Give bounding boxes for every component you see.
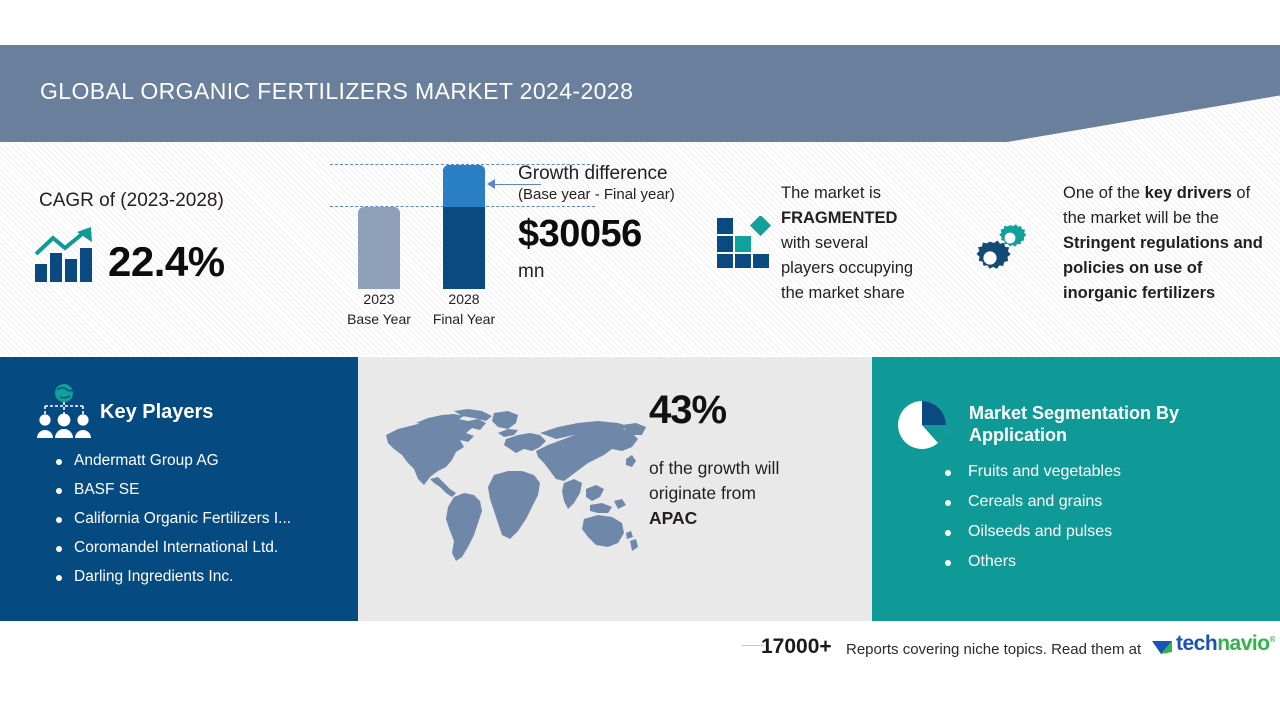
list-item: Others xyxy=(945,553,1275,571)
cagr-value: 22.4% xyxy=(108,238,225,286)
key-drivers-highlight2: Stringent regulations and policies on us… xyxy=(1063,234,1263,302)
world-map xyxy=(368,405,648,575)
footer-text: Reports covering niche topics. Read them… xyxy=(846,641,1141,658)
gears-icon xyxy=(968,222,1030,278)
list-item: California Organic Fertilizers I... xyxy=(56,510,356,528)
fragmented-line1: The market is xyxy=(781,184,881,202)
key-players-list: Andermatt Group AG BASF SE California Or… xyxy=(56,452,356,597)
region-line2: originate from xyxy=(649,483,756,503)
fragmented-line2: with several xyxy=(781,234,868,252)
list-item: Oilseeds and pulses xyxy=(945,523,1275,541)
region-name: APAC xyxy=(649,508,697,528)
bar-2023-label: 2023 Base Year xyxy=(334,289,424,329)
bar-2023 xyxy=(358,207,400,289)
logo-navio: navio xyxy=(1217,632,1269,655)
list-item: Fruits and vegetables xyxy=(945,463,1275,481)
list-item: Andermatt Group AG xyxy=(56,452,356,470)
page-title: GLOBAL ORGANIC FERTILIZERS MARKET 2024-2… xyxy=(40,78,633,105)
segmentation-list: Fruits and vegetables Cereals and grains… xyxy=(945,463,1275,583)
key-drivers-highlight1: key drivers xyxy=(1145,184,1232,202)
trademark-symbol: ® xyxy=(1270,635,1275,644)
callout-arrow-head xyxy=(487,179,495,189)
fragmented-highlight: FRAGMENTED xyxy=(781,209,897,227)
region-text: of the growth will originate from APAC xyxy=(649,456,839,531)
bar-2028 xyxy=(443,165,485,289)
cagr-label: CAGR of (2023-2028) xyxy=(39,190,224,212)
bar-2028-label: 2028 Final Year xyxy=(419,289,509,329)
key-drivers-text: One of the key drivers of the market wil… xyxy=(1063,181,1263,306)
network-people-globe-icon xyxy=(33,384,95,440)
key-drivers-prefix: One of the xyxy=(1063,184,1145,202)
pie-chart-icon xyxy=(896,399,952,451)
logo-tech: tech xyxy=(1176,632,1217,655)
bar-2023-caption: Base Year xyxy=(347,311,411,327)
technavio-logo-text[interactable]: technavio® xyxy=(1176,632,1275,656)
growth-difference-unit: mn xyxy=(518,261,544,283)
footer-report-count: 17000+ xyxy=(761,635,832,659)
list-item: BASF SE xyxy=(56,481,356,499)
bar-2028-base-segment xyxy=(443,207,485,289)
region-line1: of the growth will xyxy=(649,458,779,478)
fragmented-text: The market is FRAGMENTED with several pl… xyxy=(781,181,951,306)
bar-2028-year: 2028 xyxy=(448,291,479,307)
bar-2023-year: 2023 xyxy=(363,291,394,307)
list-item: Darling Ingredients Inc. xyxy=(56,568,356,586)
list-item: Cereals and grains xyxy=(945,493,1275,511)
list-item: Coromandel International Ltd. xyxy=(56,539,356,557)
growth-difference-value: $30056 xyxy=(518,213,642,256)
segmentation-title: Market Segmentation By Application xyxy=(969,402,1229,446)
fragmented-line4: the market share xyxy=(781,284,905,302)
fragmented-blocks-icon xyxy=(717,216,773,268)
key-players-title: Key Players xyxy=(100,401,213,424)
fragmented-line3: players occupying xyxy=(781,259,913,277)
bar-2028-caption: Final Year xyxy=(433,311,495,327)
bar-2028-growth-segment xyxy=(443,165,485,207)
region-percent: 43% xyxy=(649,388,726,433)
infographic-page: GLOBAL ORGANIC FERTILIZERS MARKET 2024-2… xyxy=(0,0,1280,720)
bar-chart-growth-icon xyxy=(33,226,99,284)
growth-difference-title: Growth difference xyxy=(518,163,668,185)
growth-difference-subtitle: (Base year - Final year) xyxy=(518,186,675,203)
